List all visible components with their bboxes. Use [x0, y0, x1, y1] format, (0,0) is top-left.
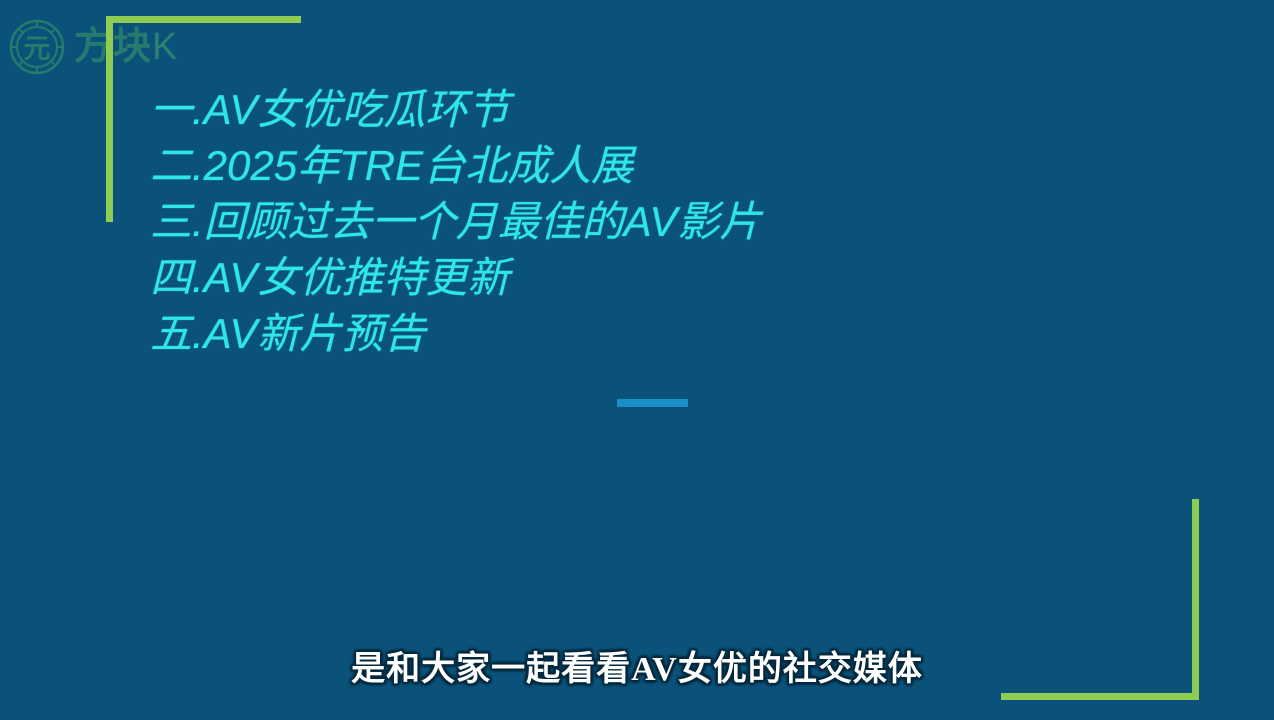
- bracket-top-left-vertical: [106, 16, 113, 222]
- agenda-item-1: 一.AV女优吃瓜环节: [150, 82, 1150, 138]
- video-slide: 元 方块K 一.AV女优吃瓜环节 二.2025年TRE台北成人展 三.回顾过去一…: [0, 0, 1274, 720]
- watermark-brand-cn: 方块: [74, 26, 152, 68]
- agenda-item-4: 四.AV女优推特更新: [150, 250, 1150, 306]
- svg-text:元: 元: [24, 34, 51, 64]
- channel-watermark: 元 方块K: [8, 18, 178, 76]
- bracket-bottom-right-horizontal: [1001, 693, 1199, 700]
- agenda-item-2: 二.2025年TRE台北成人展: [150, 138, 1150, 194]
- bracket-top-left-horizontal: [106, 16, 301, 23]
- circular-seal-logo-icon: 元: [8, 18, 66, 76]
- agenda-item-5: 五.AV新片预告: [150, 306, 1150, 362]
- subtitle-text: 是和大家一起看看AV女优的社交媒体: [351, 648, 923, 692]
- watermark-brand: 方块K: [74, 28, 178, 66]
- watermark-brand-k: K: [152, 26, 178, 68]
- subtitle-bar: 是和大家一起看看AV女优的社交媒体: [0, 648, 1274, 692]
- agenda-item-3: 三.回顾过去一个月最佳的AV影片: [150, 194, 1150, 250]
- agenda-list: 一.AV女优吃瓜环节 二.2025年TRE台北成人展 三.回顾过去一个月最佳的A…: [150, 82, 1150, 362]
- blue-accent-bar: [617, 399, 688, 407]
